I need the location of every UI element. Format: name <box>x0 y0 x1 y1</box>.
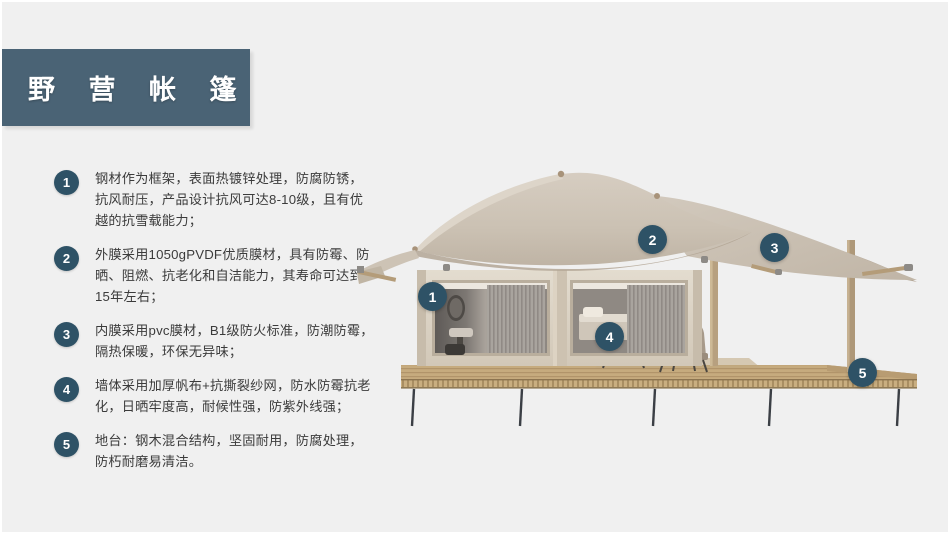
illustration-marker-5: 5 <box>848 358 877 387</box>
deck-legs <box>412 389 899 426</box>
window-bedroom <box>570 280 688 356</box>
tent-illustration <box>357 152 950 462</box>
illustration-marker-2: 2 <box>638 225 667 254</box>
feature-list: 1 钢材作为框架，表面热镀锌处理，防腐防锈，抗风耐压，产品设计抗风可达8-10级… <box>54 168 374 485</box>
illustration-marker-1: 1 <box>418 282 447 311</box>
feature-text-3: 内膜采用pvc膜材，B1级防火标准，防潮防霉，隔热保暖，环保无异味； <box>95 320 374 362</box>
feature-badge-2: 2 <box>54 246 79 271</box>
page-title: 野 营 帐 篷 <box>2 68 250 107</box>
feature-item-4: 4 墙体采用加厚帆布+抗撕裂纱网，防水防霉抗老化，日晒牢度高，耐候性强，防紫外线… <box>54 375 374 417</box>
feature-text-5: 地台：钢木混合结构，坚固耐用，防腐处理，防朽耐磨易清洁。 <box>95 430 374 472</box>
feature-item-1: 1 钢材作为框架，表面热镀锌处理，防腐防锈，抗风耐压，产品设计抗风可达8-10级… <box>54 168 374 231</box>
illustration-marker-4: 4 <box>595 322 624 351</box>
feature-badge-1: 1 <box>54 170 79 195</box>
tension-peak-left <box>558 171 564 177</box>
feature-badge-3: 3 <box>54 322 79 347</box>
feature-item-3: 3 内膜采用pvc膜材，B1级防火标准，防潮防霉，隔热保暖，环保无异味； <box>54 320 374 362</box>
illustration-marker-3: 3 <box>760 233 789 262</box>
feature-badge-5: 5 <box>54 432 79 457</box>
feature-item-2: 2 外膜采用1050gPVDF优质膜材，具有防霉、防晒、阻燃、抗老化和自洁能力，… <box>54 244 374 307</box>
feature-text-1: 钢材作为框架，表面热镀锌处理，防腐防锈，抗风耐压，产品设计抗风可达8-10级，且… <box>95 168 374 231</box>
tension-peak-center <box>654 193 660 199</box>
feature-text-4: 墙体采用加厚帆布+抗撕裂纱网，防水防霉抗老化，日晒牢度高，耐候性强，防紫外线强； <box>95 375 374 417</box>
title-banner: 野 营 帐 篷 <box>2 49 250 126</box>
slide-root: 野 营 帐 篷 1 钢材作为框架，表面热镀锌处理，防腐防锈，抗风耐压，产品设计抗… <box>0 0 950 534</box>
window-bathroom <box>432 280 550 356</box>
feature-badge-4: 4 <box>54 377 79 402</box>
feature-text-2: 外膜采用1050gPVDF优质膜材，具有防霉、防晒、阻燃、抗老化和自洁能力，其寿… <box>95 244 374 307</box>
feature-item-5: 5 地台：钢木混合结构，坚固耐用，防腐处理，防朽耐磨易清洁。 <box>54 430 374 472</box>
